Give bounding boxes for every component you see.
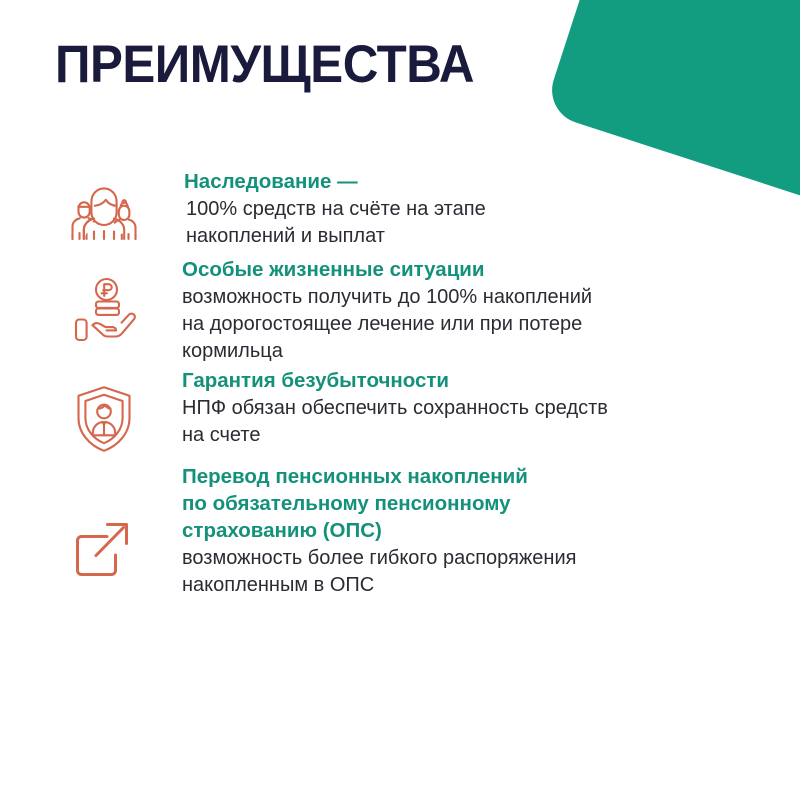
benefit-item-special-life-situations: Особые жизненные ситуации возможность по…: [0, 254, 800, 365]
benefit-body: НПФ обязан обеспечить сохранность средст…: [182, 395, 800, 449]
benefit-item-loss-protection-guarantee: Гарантия безубыточности НПФ обязан обесп…: [0, 365, 800, 461]
benefits-list: Наследование — 100% средств на счёте на …: [0, 166, 800, 599]
page-title: ПРЕИМУЩЕСТВА: [55, 38, 474, 91]
benefit-text-block: Гарантия безубыточности НПФ обязан обесп…: [146, 365, 800, 449]
benefit-body: возможность получить до 100% накоплений …: [182, 284, 800, 365]
benefit-text-block: Наследование — 100% средств на счёте на …: [146, 166, 800, 250]
benefit-heading: Особые жизненные ситуации: [182, 256, 800, 283]
benefit-heading: Наследование —: [184, 168, 800, 195]
benefit-text-block: Особые жизненные ситуации возможность по…: [146, 254, 800, 365]
benefit-heading: Перевод пенсионных накоплений по обязате…: [182, 463, 800, 544]
benefit-body: 100% средств на счёте на этапе накоплени…: [184, 196, 800, 250]
family-group-icon: [62, 170, 146, 254]
share-arrow-out-of-box-icon: [62, 507, 146, 591]
benefit-body: возможность более гибкого распоряжения н…: [182, 545, 800, 599]
benefits-slide: ПРЕИМУЩЕСТВА: [0, 0, 800, 800]
benefit-item-transfer-ops: Перевод пенсионных накоплений по обязате…: [0, 461, 800, 599]
benefit-text-block: Перевод пенсионных накоплений по обязате…: [146, 461, 800, 599]
shield-with-person-icon: [62, 377, 146, 461]
hand-with-ruble-coins-icon: [62, 268, 146, 352]
benefit-item-inheritance: Наследование — 100% средств на счёте на …: [0, 166, 800, 254]
benefit-heading: Гарантия безубыточности: [182, 367, 800, 394]
